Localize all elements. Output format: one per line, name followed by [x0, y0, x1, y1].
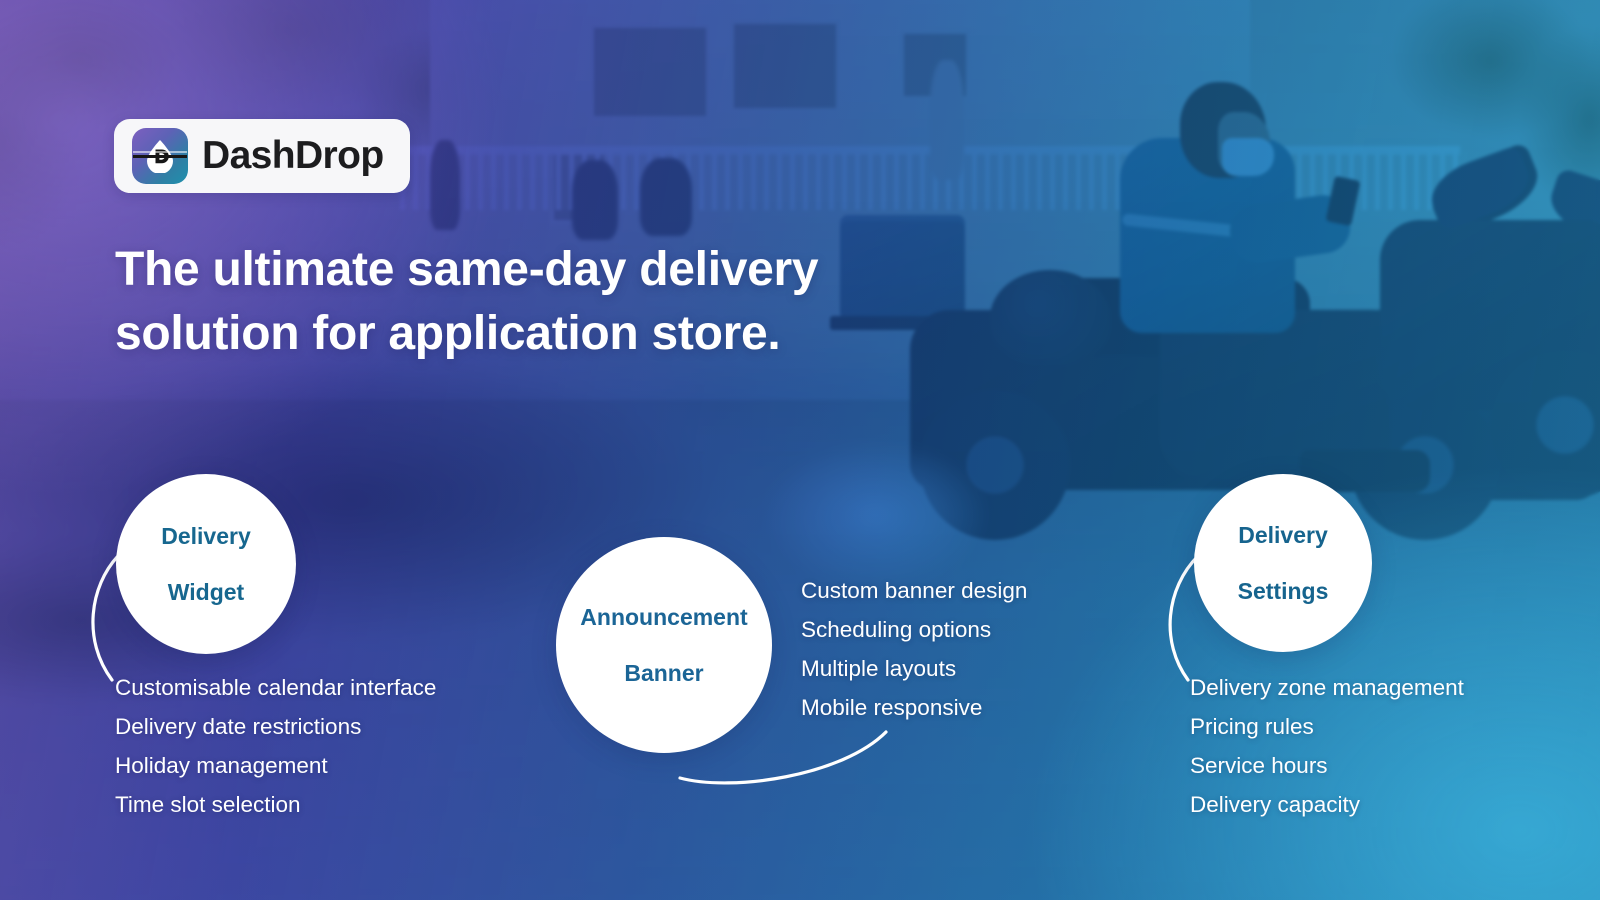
list-item: Holiday management: [115, 746, 436, 785]
list-item: Multiple layouts: [801, 649, 1027, 688]
list-item: Delivery zone management: [1190, 668, 1464, 707]
feature-title-line-2: Widget: [151, 578, 261, 606]
feature-circle-announcement-banner[interactable]: Announcement Banner: [556, 537, 772, 753]
list-item: Custom banner design: [801, 571, 1027, 610]
dash-line-icon: [133, 155, 187, 158]
feature-title-line-2: Settings: [1228, 577, 1339, 605]
feature-title-line-2: Banner: [570, 659, 757, 687]
list-item: Service hours: [1190, 746, 1464, 785]
list-item: Customisable calendar interface: [115, 668, 436, 707]
hero-content: DashDrop The ultimate same-day delivery …: [0, 0, 1600, 900]
dashdrop-droplet-icon: [132, 128, 188, 184]
list-item: Delivery date restrictions: [115, 707, 436, 746]
page-title: The ultimate same-day delivery solution …: [115, 238, 905, 366]
list-item: Delivery capacity: [1190, 785, 1464, 824]
feature-list-announcement-banner: Custom banner design Scheduling options …: [801, 571, 1027, 727]
feature-circle-delivery-widget[interactable]: Delivery Widget: [116, 474, 296, 654]
hero-banner: DashDrop The ultimate same-day delivery …: [0, 0, 1600, 900]
feature-circle-delivery-settings[interactable]: Delivery Settings: [1194, 474, 1372, 652]
list-item: Mobile responsive: [801, 688, 1027, 727]
brand-logo[interactable]: DashDrop: [114, 119, 410, 193]
brand-name: DashDrop: [202, 134, 384, 178]
feature-title-line-1: Delivery: [151, 522, 261, 550]
feature-title-line-1: Announcement: [570, 603, 757, 631]
feature-list-delivery-settings: Delivery zone management Pricing rules S…: [1190, 668, 1464, 824]
feature-title-line-1: Delivery: [1228, 521, 1339, 549]
list-item: Scheduling options: [801, 610, 1027, 649]
list-item: Time slot selection: [115, 785, 436, 824]
feature-list-delivery-widget: Customisable calendar interface Delivery…: [115, 668, 436, 824]
list-item: Pricing rules: [1190, 707, 1464, 746]
